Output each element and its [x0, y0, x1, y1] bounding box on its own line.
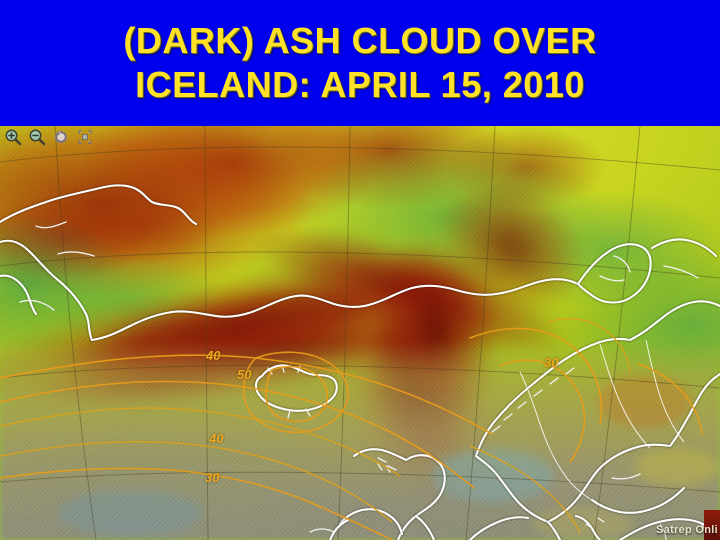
map-vector-overlay [0, 126, 720, 540]
fullscreen-icon[interactable] [76, 128, 94, 146]
presentation-slide: (DARK) ASH CLOUD OVER ICELAND: APRIL 15,… [0, 0, 720, 540]
zoom-out-icon[interactable] [28, 128, 46, 146]
title-line-1: (DARK) ASH CLOUD OVER [123, 19, 596, 63]
satellite-map-viewport[interactable]: 40 50 40 30 30 [0, 126, 720, 540]
provider-watermark: Satrep Onli [656, 524, 718, 536]
satellite-image: 40 50 40 30 30 [0, 126, 720, 540]
refresh-icon[interactable] [52, 128, 70, 146]
slide-title-banner: (DARK) ASH CLOUD OVER ICELAND: APRIL 15,… [0, 0, 720, 126]
contour-label-40-north: 40 [206, 348, 220, 363]
contour-label-30-south: 30 [205, 470, 219, 485]
contour-label-50: 50 [237, 367, 251, 382]
title-line-2: ICELAND: APRIL 15, 2010 [135, 63, 585, 107]
zoom-in-icon[interactable] [4, 128, 22, 146]
map-toolbar [4, 128, 94, 146]
contour-label-40-mid: 40 [209, 431, 223, 446]
contour-label-30-east: 30 [544, 355, 558, 370]
